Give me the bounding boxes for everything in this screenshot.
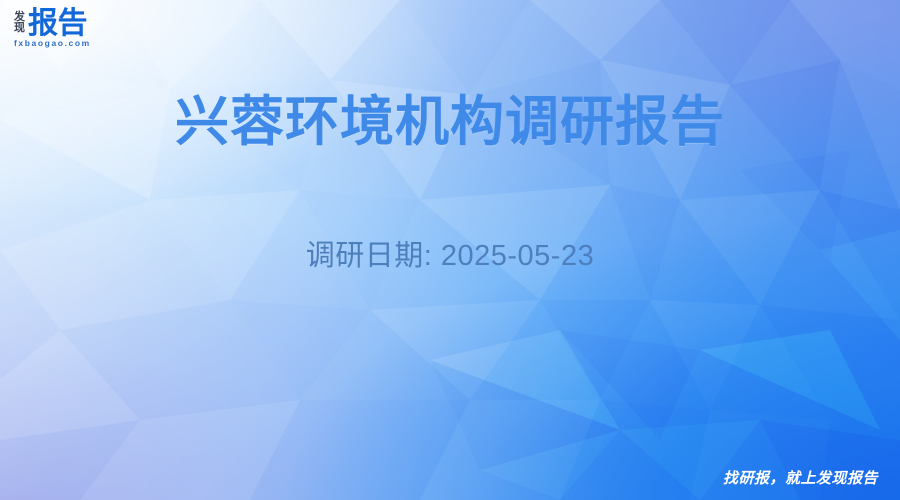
logo-mark-char-bottom: 现: [14, 23, 25, 34]
logo-mark: 发 现: [14, 12, 25, 34]
page-title: 兴蓉环境机构调研报告: [0, 92, 900, 152]
survey-date-subtitle: 调研日期: 2025-05-23: [0, 232, 900, 274]
report-cover-page: 发 现 报告 fxbaogao.com 兴蓉环境机构调研报告 调研日期: 202…: [0, 0, 900, 500]
footer-slogan: 找研报，就上发现报告: [723, 467, 878, 488]
site-logo[interactable]: 发 现 报告: [14, 9, 87, 39]
title-block: 兴蓉环境机构调研报告: [0, 92, 900, 152]
logo-domain-text: fxbaogao.com: [14, 38, 91, 48]
logo-wordmark: 报告: [28, 9, 87, 39]
